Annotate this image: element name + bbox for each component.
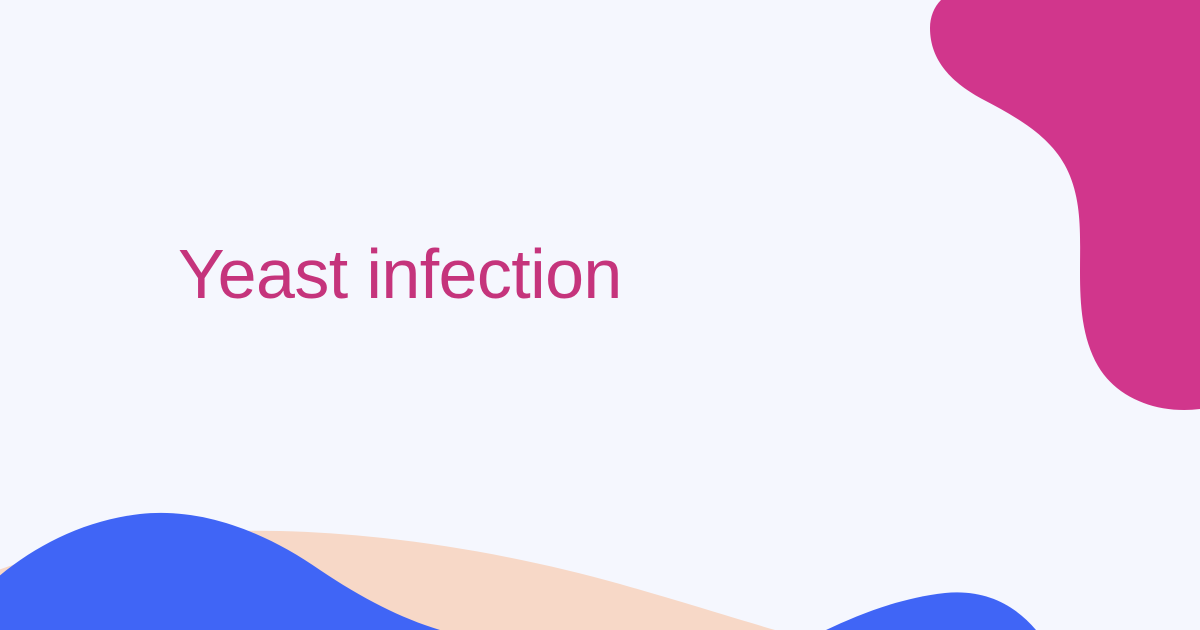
peach-blob-bottom-shape [0, 531, 775, 630]
pink-blob-top-right-shape [930, 0, 1200, 410]
headline-region: Yeast infection [0, 0, 1200, 630]
page-title: Yeast infection [178, 222, 622, 326]
social-share-card: Yeast infection [0, 0, 1200, 630]
blue-blob-bottom-right-shape [826, 592, 1036, 630]
decorative-blob-layer [0, 0, 1200, 630]
blue-blob-bottom-left-shape [0, 513, 440, 630]
card-background [0, 0, 1200, 630]
